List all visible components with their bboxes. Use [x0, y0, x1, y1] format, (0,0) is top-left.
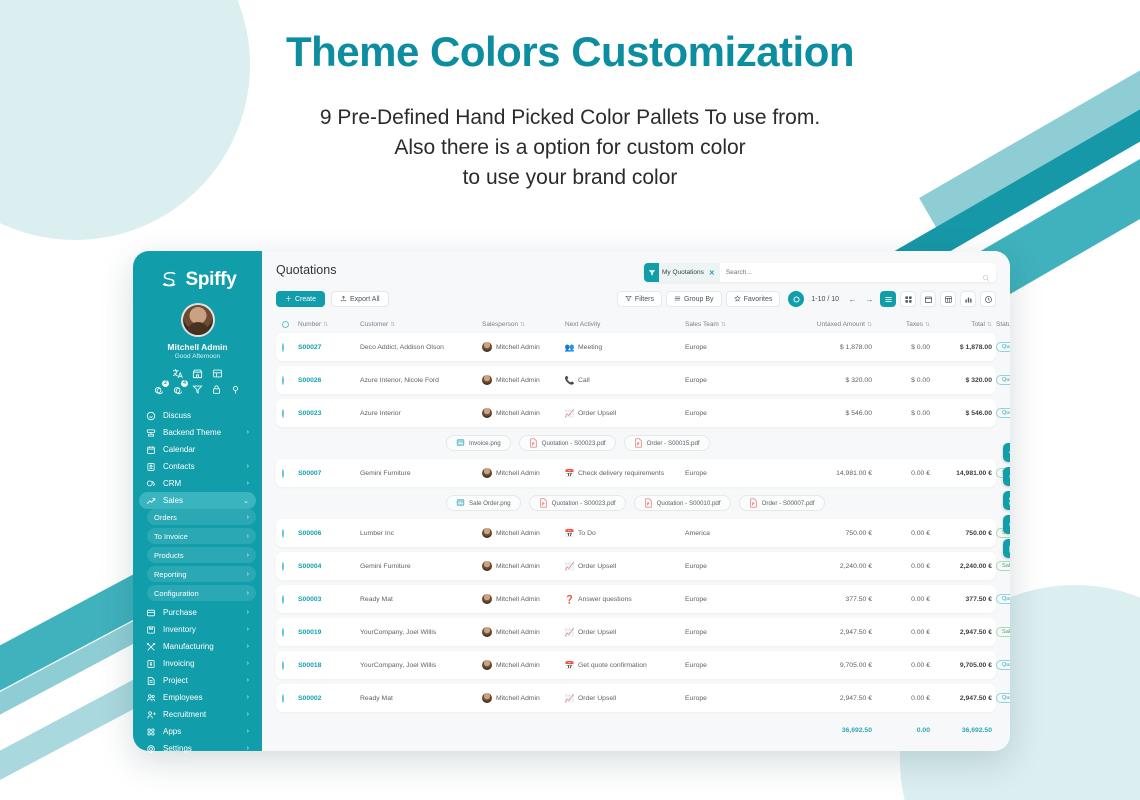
cell-status: Sales Order — [992, 627, 1010, 637]
cell-sales-team: Europe — [685, 596, 777, 603]
cell-untaxed-amount: $ 320.00 — [777, 377, 872, 384]
chevron-right-icon: › — [247, 463, 249, 470]
table-row[interactable]: S00002Ready MatMitchell Admin📈Order Upse… — [276, 684, 996, 712]
table-row[interactable]: S00003Ready MatMitchell Admin❓Answer que… — [276, 585, 996, 613]
employees-icon — [146, 693, 156, 703]
plus-icon: ＋ — [285, 294, 292, 304]
cell-total: 14,981.00 € — [930, 470, 992, 477]
page-title: Quotations — [276, 263, 336, 277]
attachment-chip-label: Order - S00007.pdf — [762, 500, 815, 507]
sidebar-item-manufacturing[interactable]: Manufacturing › — [139, 638, 256, 655]
filter-funnel-icon — [625, 295, 632, 304]
arrow-right-icon[interactable]: → — [863, 291, 876, 307]
cell-untaxed-amount: 2,947.50 € — [777, 695, 872, 702]
cell-salesperson: Mitchell Admin — [482, 594, 565, 604]
salesperson-avatar — [482, 468, 492, 478]
sidebar-item-label: Project — [163, 676, 240, 685]
filter-funnel-icon — [644, 263, 659, 282]
fullscreen-icon[interactable] — [1003, 491, 1010, 510]
chevron-right-icon: › — [247, 643, 249, 650]
attachment-chip[interactable]: Invoice.png — [446, 435, 511, 451]
attachment-chip[interactable]: Quotation - S00023.pdf — [529, 495, 626, 511]
activity-icon: 📅 — [565, 469, 574, 478]
project-icon — [146, 676, 156, 686]
status-badge: Quotation Sent — [996, 660, 1010, 670]
screenshot-stage: Theme Colors Customization 9 Pre-Defined… — [0, 0, 1140, 800]
create-button-label: Create — [295, 296, 316, 303]
salesperson-avatar — [482, 660, 492, 670]
chevron-right-icon: › — [247, 711, 249, 718]
star-icon[interactable] — [1003, 443, 1010, 462]
row-checkbox[interactable] — [282, 662, 298, 669]
cell-total: 377.50 € — [930, 596, 992, 603]
totals-total: 36,692.50 — [930, 727, 992, 734]
sales-chart-icon — [146, 496, 156, 506]
sidebar-item-contacts[interactable]: Contacts › — [139, 458, 256, 475]
sidebar-subitem-label: Configuration — [154, 589, 240, 598]
export-all-button[interactable]: Export All — [331, 291, 389, 307]
spiffy-logo-icon — [159, 269, 181, 291]
quick-icons-row-1 — [133, 368, 262, 379]
graph-view-icon[interactable] — [960, 291, 976, 307]
cell-total: 750.00 € — [930, 530, 992, 537]
cell-sales-team: Europe — [685, 344, 777, 351]
table-row[interactable]: S00006Lumber IncMitchell Admin📅To DoAmer… — [276, 519, 996, 547]
cell-taxes: $ 0.00 — [872, 410, 930, 417]
sidebar-subitem-label: Orders — [154, 513, 240, 522]
column-header-next-activity: Next Activity — [565, 321, 685, 328]
topbar-row-title: Quotations My Quotations ✕ — [276, 263, 996, 282]
activity-icon: 📅 — [565, 529, 574, 538]
sidebar-item-discuss[interactable]: Discuss — [139, 407, 256, 424]
sidebar-item-label: Contacts — [163, 462, 240, 471]
cell-salesperson: Mitchell Admin — [482, 342, 565, 352]
hamburger-icon — [674, 295, 681, 304]
status-badge: Sales Order — [996, 561, 1010, 571]
search-bar[interactable]: My Quotations ✕ — [644, 263, 996, 282]
column-header-untaxed-amount: Untaxed Amount⇅ — [777, 321, 872, 328]
row-checkbox[interactable] — [282, 410, 298, 417]
cell-customer: YourCompany, Joel Willis — [360, 662, 482, 669]
cell-taxes: 0.00 € — [872, 596, 930, 603]
user-avatar-wrap[interactable] — [133, 303, 262, 337]
column-header-total: Total⇅ — [930, 321, 992, 328]
attachment-chip[interactable]: Sale Order.png — [446, 495, 521, 511]
image-file-icon — [456, 438, 465, 448]
table-row[interactable]: S00007Gemini FurnitureMitchell Admin📅Che… — [276, 459, 996, 487]
cell-number: S00003 — [298, 596, 360, 603]
quick-icons-row-2: 2 4 — [133, 384, 262, 395]
image-file-icon — [456, 498, 465, 508]
sidebar-item-inventory[interactable]: Inventory › — [139, 621, 256, 638]
crm-icon — [146, 479, 156, 489]
cell-untaxed-amount: 2,240.00 € — [777, 563, 872, 570]
cell-status: Quotation Sent — [992, 660, 1010, 670]
attachment-chip[interactable]: Order - S00007.pdf — [739, 495, 825, 511]
table-row[interactable]: S00018YourCompany, Joel WillisMitchell A… — [276, 651, 996, 679]
calendar-icon — [146, 445, 156, 455]
chevron-right-icon: › — [247, 571, 249, 578]
hero-title: Theme Colors Customization — [0, 28, 1140, 76]
star-icon — [734, 295, 741, 304]
status-badge: Quotation — [996, 408, 1010, 418]
cell-taxes: $ 0.00 — [872, 344, 930, 351]
attachment-chip-label: Quotation - S00010.pdf — [657, 500, 721, 507]
cell-taxes: 0.00 € — [872, 662, 930, 669]
pivot-view-icon[interactable] — [940, 291, 956, 307]
theme-icon — [146, 428, 156, 438]
cell-next-activity: ❓Answer questions — [565, 595, 685, 604]
view-controls: Filters Group By Favorites — [617, 291, 996, 307]
filter-flag-icon[interactable] — [192, 384, 203, 395]
pin-icon[interactable] — [230, 384, 241, 395]
sidebar-subitem-label: To Invoice — [154, 532, 240, 541]
search-icon[interactable] — [1003, 467, 1010, 486]
cell-taxes: 0.00 € — [872, 563, 930, 570]
totals-untaxed: 36,692.50 — [777, 727, 872, 734]
cell-next-activity: 👥Meeting — [565, 343, 685, 352]
cell-taxes: 0.00 € — [872, 470, 930, 477]
sidebar-item-label: Manufacturing — [163, 642, 240, 651]
cell-total: 2,947.50 € — [930, 629, 992, 636]
pdf-file-icon — [539, 498, 548, 508]
salesperson-avatar — [482, 693, 492, 703]
invoicing-icon — [146, 659, 156, 669]
activity-icon: 📞 — [565, 376, 574, 385]
sidebar-subitem-reporting[interactable]: Reporting › — [147, 566, 256, 582]
user-name: Mitchell Admin — [133, 342, 262, 352]
cell-sales-team: Europe — [685, 695, 777, 702]
create-button[interactable]: ＋ Create — [276, 291, 325, 307]
cell-total: $ 1,878.00 — [930, 344, 992, 351]
pdf-file-icon — [644, 498, 653, 508]
calendar-view-icon[interactable] — [920, 291, 936, 307]
sidebar-item-label: Backend Theme — [163, 428, 240, 437]
cell-taxes: $ 0.00 — [872, 377, 930, 384]
row-checkbox[interactable] — [282, 629, 298, 636]
column-header-status: Status⇅ — [992, 321, 1010, 328]
cell-customer: Ready Mat — [360, 596, 482, 603]
chevron-right-icon: › — [247, 660, 249, 667]
favorites-button[interactable]: Favorites — [726, 291, 781, 307]
table-header-row: Number⇅ Customer⇅ Salesperson⇅ Next Acti… — [276, 316, 996, 333]
cell-customer: Gemini Furniture — [360, 563, 482, 570]
sidebar-item-label: Employees — [163, 693, 240, 702]
hero-subtitle: 9 Pre-Defined Hand Picked Color Pallets … — [0, 103, 1140, 194]
attachment-chip[interactable]: Quotation - S00010.pdf — [634, 495, 731, 511]
sidebar-item-purchase[interactable]: Purchase › — [139, 604, 256, 621]
kanban-view-icon[interactable] — [900, 291, 916, 307]
sidebar-subitem-products[interactable]: Products › — [147, 547, 256, 563]
sidebar-item-label: Apps — [163, 727, 240, 736]
status-badge: Quotation — [996, 375, 1010, 385]
hero-subtitle-line-1: 9 Pre-Defined Hand Picked Color Pallets … — [0, 103, 1140, 133]
shop-icon[interactable] — [192, 368, 203, 379]
cell-salesperson: Mitchell Admin — [482, 627, 565, 637]
chevron-right-icon: › — [247, 728, 249, 735]
sidebar-item-calendar[interactable]: Calendar — [139, 441, 256, 458]
translate-icon[interactable] — [172, 368, 183, 379]
cell-sales-team: Europe — [685, 563, 777, 570]
floating-toolbar — [1003, 443, 1010, 558]
user-greeting: Good Afternoon — [133, 353, 262, 360]
chevron-right-icon: › — [247, 429, 249, 436]
search-facet-label: My Quotations — [662, 269, 706, 276]
chevron-right-icon: › — [247, 626, 249, 633]
row-checkbox[interactable] — [282, 563, 298, 570]
upload-icon — [340, 295, 347, 304]
salesperson-avatar — [482, 561, 492, 571]
cell-status: Quotation — [992, 693, 1010, 703]
chevron-right-icon: › — [247, 514, 249, 521]
sidebar-item-sales[interactable]: Sales ⌄ — [139, 492, 256, 509]
topbar-row-controls: ＋ Create Export All — [276, 291, 996, 307]
attachment-chip-label: Quotation - S00023.pdf — [542, 440, 606, 447]
bookmark-panel-icon[interactable] — [1003, 539, 1010, 558]
table-row[interactable]: S00023Azure InteriorMitchell Admin📈Order… — [276, 399, 996, 427]
pdf-file-icon — [529, 438, 538, 448]
brand-name: Spiffy — [186, 269, 237, 291]
app-window: Spiffy Mitchell Admin Good Afternoon — [133, 251, 1010, 751]
cell-number: S00027 — [298, 344, 360, 351]
apps-icon — [146, 727, 156, 737]
filters-label: Filters — [635, 296, 654, 303]
activity-icon: ❓ — [565, 595, 574, 604]
cell-next-activity: 📅To Do — [565, 529, 685, 538]
apps-grid-icon[interactable] — [212, 368, 223, 379]
salesperson-avatar — [482, 408, 492, 418]
discuss-icon — [146, 411, 156, 421]
chevron-right-icon: › — [247, 745, 249, 752]
cell-sales-team: America — [685, 530, 777, 537]
cell-salesperson: Mitchell Admin — [482, 408, 565, 418]
cell-number: S00007 — [298, 470, 360, 477]
cell-customer: Azure Interior, Nicole Ford — [360, 377, 482, 384]
cell-sales-team: Europe — [685, 470, 777, 477]
cell-next-activity: 📈Order Upsell — [565, 562, 685, 571]
cell-salesperson: Mitchell Admin — [482, 375, 565, 385]
group-by-label: Group By — [684, 296, 714, 303]
sidebar-subitem-to-invoice[interactable]: To Invoice › — [147, 528, 256, 544]
hero-subtitle-line-3: to use your brand color — [0, 163, 1140, 193]
sidebar-item-invoicing[interactable]: Invoicing › — [139, 655, 256, 672]
topbar: Quotations My Quotations ✕ — [262, 251, 1010, 307]
activity-badge: 4 — [181, 380, 188, 387]
cell-taxes: 0.00 € — [872, 629, 930, 636]
sidebar-item-backend-theme[interactable]: Backend Theme › — [139, 424, 256, 441]
cell-customer: Ready Mat — [360, 695, 482, 702]
arrow-left-icon[interactable]: ← — [846, 291, 859, 307]
cell-next-activity: 📈Order Upsell — [565, 628, 685, 637]
activity-icon: 📈 — [565, 628, 574, 637]
activity-view-icon[interactable] — [980, 291, 996, 307]
search-facet[interactable]: My Quotations ✕ — [644, 263, 720, 282]
table-totals-row: 36,692.50 0.00 36,692.50 — [276, 717, 996, 743]
sidebar-subitem-configuration[interactable]: Configuration › — [147, 585, 256, 601]
row-checkbox[interactable] — [282, 596, 298, 603]
cell-untaxed-amount: $ 546.00 — [777, 410, 872, 417]
cell-taxes: 0.00 € — [872, 530, 930, 537]
sidebar-item-label: Settings — [163, 744, 240, 753]
cell-number: S00006 — [298, 530, 360, 537]
sidebar-item-label: Invoicing — [163, 659, 240, 668]
sidebar-item-label: Inventory — [163, 625, 240, 634]
sidebar-subitem-orders[interactable]: Orders › — [147, 509, 256, 525]
cell-untaxed-amount: 377.50 € — [777, 596, 872, 603]
cell-salesperson: Mitchell Admin — [482, 693, 565, 703]
cell-customer: Azure Interior — [360, 410, 482, 417]
cell-customer: Deco Addict, Addison Olson — [360, 344, 482, 351]
avatar — [181, 303, 215, 337]
sidebar-item-label: Discuss — [163, 411, 242, 420]
cell-next-activity: 📅Get quote confirmation — [565, 661, 685, 670]
sidebar-item-crm[interactable]: CRM › — [139, 475, 256, 492]
sidebar-item-recruitment[interactable]: Recruitment › — [139, 706, 256, 723]
salesperson-avatar — [482, 342, 492, 352]
attachment-chip-label: Order - S00015.pdf — [647, 440, 700, 447]
close-x-icon[interactable]: ✕ — [709, 269, 720, 277]
activity-icon: 📅 — [565, 661, 574, 670]
sidebar-subitem-label: Reporting — [154, 570, 240, 579]
table-body: S00027Deco Addict, Addison OlsonMitchell… — [276, 333, 996, 712]
cell-total: 2,947.50 € — [930, 695, 992, 702]
chevron-right-icon: › — [247, 533, 249, 540]
column-header-number: Number⇅ — [298, 321, 360, 328]
row-checkbox[interactable] — [282, 377, 298, 384]
sidebar-menu: Discuss Backend Theme › Calendar Contact… — [133, 407, 262, 763]
sidebar: Spiffy Mitchell Admin Good Afternoon — [133, 251, 262, 751]
cell-total: 9,705.00 € — [930, 662, 992, 669]
cell-customer: Gemini Furniture — [360, 470, 482, 477]
activity-icon: 📈 — [565, 562, 574, 571]
table-row[interactable]: S00026Azure Interior, Nicole FordMitchel… — [276, 366, 996, 394]
sidebar-item-project[interactable]: Project › — [139, 672, 256, 689]
cell-total: $ 546.00 — [930, 410, 992, 417]
chevron-right-icon: › — [247, 480, 249, 487]
sidebar-item-employees[interactable]: Employees › — [139, 689, 256, 706]
list-view-icon[interactable] — [880, 291, 896, 307]
activity-icon[interactable]: 4 — [173, 384, 184, 395]
cell-untaxed-amount: 14,981.00 € — [777, 470, 872, 477]
inventory-icon — [146, 625, 156, 635]
pager-text: 1-10 / 10 — [808, 296, 842, 303]
cell-status: Sales Order — [992, 561, 1010, 571]
salesperson-avatar — [482, 627, 492, 637]
column-header-sales-team: Sales Team⇅ — [685, 321, 777, 328]
cell-status: Quotation — [992, 594, 1010, 604]
export-all-label: Export All — [350, 296, 380, 303]
cell-untaxed-amount: 750.00 € — [777, 530, 872, 537]
attachment-chip[interactable]: Quotation - S00023.pdf — [519, 435, 616, 451]
cell-sales-team: Europe — [685, 629, 777, 636]
messages-badge: 2 — [162, 380, 169, 387]
cell-next-activity: 📈Order Upsell — [565, 409, 685, 418]
messages-icon[interactable]: 2 — [154, 384, 165, 395]
table-row[interactable]: S00004Gemini FurnitureMitchell Admin📈Ord… — [276, 552, 996, 580]
pdf-file-icon — [749, 498, 758, 508]
cell-customer: YourCompany, Joel Willis — [360, 629, 482, 636]
cell-next-activity: 📅Check delivery requirements — [565, 469, 685, 478]
reload-circle-icon[interactable] — [788, 291, 804, 307]
cell-untaxed-amount: 2,947.50 € — [777, 629, 872, 636]
group-by-button[interactable]: Group By — [666, 291, 722, 307]
attachment-chip-label: Quotation - S00023.pdf — [552, 500, 616, 507]
cell-number: S00002 — [298, 695, 360, 702]
column-header-salesperson: Salesperson⇅ — [482, 321, 565, 328]
table-row[interactable]: S00019YourCompany, Joel WillisMitchell A… — [276, 618, 996, 646]
contacts-icon — [146, 462, 156, 472]
activity-icon: 📈 — [565, 409, 574, 418]
chevron-right-icon: › — [247, 609, 249, 616]
cell-status: Quotation — [992, 342, 1010, 352]
cell-number: S00026 — [298, 377, 360, 384]
activity-icon: 👥 — [565, 343, 574, 352]
chevron-right-icon: › — [247, 590, 249, 597]
cell-number: S00019 — [298, 629, 360, 636]
sidebar-item-apps[interactable]: Apps › — [139, 723, 256, 740]
row-checkbox[interactable] — [282, 695, 298, 702]
lock-icon[interactable] — [211, 384, 222, 395]
table-row[interactable]: S00027Deco Addict, Addison OlsonMitchell… — [276, 333, 996, 361]
attachment-chip-row: Invoice.pngQuotation - S00023.pdfOrder -… — [276, 432, 996, 454]
column-header-customer: Customer⇅ — [360, 321, 482, 328]
filters-button[interactable]: Filters — [617, 291, 662, 307]
sidebar-item-settings[interactable]: Settings › — [139, 740, 256, 757]
status-badge: Quotation — [996, 342, 1010, 352]
row-checkbox[interactable] — [282, 470, 298, 477]
salesperson-avatar — [482, 528, 492, 538]
sidebar-item-label: Sales — [163, 496, 236, 505]
search-icon[interactable] — [982, 269, 990, 277]
cell-total: 2,240.00 € — [930, 563, 992, 570]
salesperson-avatar — [482, 594, 492, 604]
search-input[interactable] — [720, 269, 982, 276]
row-checkbox[interactable] — [282, 344, 298, 351]
cell-number: S00018 — [298, 662, 360, 669]
sidebar-subitem-label: Products — [154, 551, 240, 560]
status-badge: Sales Order — [996, 627, 1010, 637]
quotations-table: Number⇅ Customer⇅ Salesperson⇅ Next Acti… — [262, 307, 1010, 743]
attachment-chip-label: Invoice.png — [469, 440, 501, 447]
row-checkbox[interactable] — [282, 530, 298, 537]
manufacturing-icon — [146, 642, 156, 652]
cell-salesperson: Mitchell Admin — [482, 561, 565, 571]
select-all-checkbox[interactable] — [282, 321, 298, 328]
main-pane: Quotations My Quotations ✕ — [262, 251, 1010, 751]
activity-icon: 📈 — [565, 694, 574, 703]
sidebar-item-label: Calendar — [163, 445, 242, 454]
sidebar-item-label: CRM — [163, 479, 240, 488]
cell-status: Quotation — [992, 408, 1010, 418]
cell-untaxed-amount: $ 1,878.00 — [777, 344, 872, 351]
chevron-right-icon: › — [247, 694, 249, 701]
chevron-down-icon: ⌄ — [243, 497, 249, 505]
sidebar-item-label: Purchase — [163, 608, 240, 617]
recruitment-icon — [146, 710, 156, 720]
cell-total: $ 320.00 — [930, 377, 992, 384]
cell-salesperson: Mitchell Admin — [482, 660, 565, 670]
attachment-chip-row: Sale Order.pngQuotation - S00023.pdfQuot… — [276, 492, 996, 514]
sidebar-item-label: Recruitment — [163, 710, 240, 719]
status-badge: Quotation — [996, 693, 1010, 703]
cell-salesperson: Mitchell Admin — [482, 528, 565, 538]
cell-next-activity: 📞Call — [565, 376, 685, 385]
zoom-in-icon[interactable] — [1003, 515, 1010, 534]
cell-number: S00004 — [298, 563, 360, 570]
brand[interactable]: Spiffy — [133, 263, 262, 299]
attachment-chip[interactable]: Order - S00015.pdf — [624, 435, 710, 451]
cell-untaxed-amount: 9,705.00 € — [777, 662, 872, 669]
